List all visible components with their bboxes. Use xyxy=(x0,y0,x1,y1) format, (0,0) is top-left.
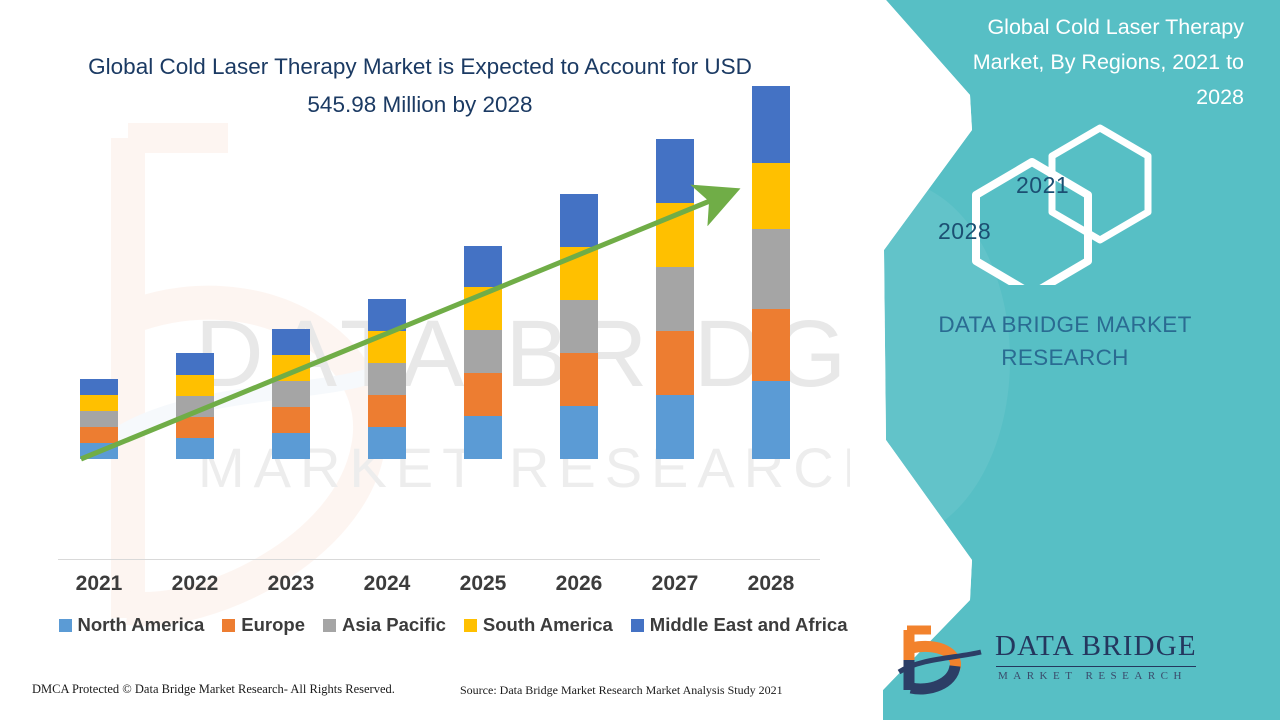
dmca-notice: DMCA Protected © Data Bridge Market Rese… xyxy=(32,682,395,697)
legend-swatch xyxy=(323,619,336,632)
legend-item[interactable]: Asia Pacific xyxy=(323,614,446,636)
x-tick-2026: 2026 xyxy=(539,572,619,596)
bar-2022 xyxy=(176,353,214,459)
bar-segment xyxy=(272,355,310,381)
side-panel-brand: DATA BRIDGE MARKET RESEARCH xyxy=(885,308,1245,374)
legend-label: Asia Pacific xyxy=(342,614,446,636)
chart-legend: North AmericaEuropeAsia PacificSouth Ame… xyxy=(58,614,848,636)
bar-segment xyxy=(752,381,790,459)
legend-label: North America xyxy=(78,614,205,636)
bar-segment xyxy=(80,427,118,443)
bar-segment xyxy=(752,229,790,309)
hexagon-label-2021: 2021 xyxy=(1016,172,1069,199)
legend-swatch xyxy=(631,619,644,632)
x-tick-2022: 2022 xyxy=(155,572,235,596)
bar-segment xyxy=(368,363,406,395)
legend-item[interactable]: South America xyxy=(464,614,613,636)
bar-segment xyxy=(272,433,310,459)
logo-subtitle: MARKET RESEARCH xyxy=(998,670,1187,682)
bar-segment xyxy=(560,300,598,353)
hexagon-pair-icon xyxy=(970,120,1200,285)
bar-segment xyxy=(176,375,214,396)
bar-2024 xyxy=(368,299,406,459)
x-tick-2023: 2023 xyxy=(251,572,331,596)
legend-swatch xyxy=(464,619,477,632)
bar-segment xyxy=(656,395,694,459)
logo-title: DATA BRIDGE xyxy=(995,630,1197,663)
bar-segment xyxy=(176,438,214,459)
bar-segment xyxy=(656,203,694,267)
legend-item[interactable]: Middle East and Africa xyxy=(631,614,848,636)
bar-segment xyxy=(368,299,406,331)
bar-segment xyxy=(368,427,406,459)
bar-segment xyxy=(560,353,598,406)
bar-segment xyxy=(656,267,694,331)
x-tick-2024: 2024 xyxy=(347,572,427,596)
legend-swatch xyxy=(222,619,235,632)
logo-divider xyxy=(996,666,1196,667)
bar-segment xyxy=(464,416,502,459)
side-panel: Global Cold Laser Therapy Market, By Reg… xyxy=(850,0,1280,720)
footer: DMCA Protected © Data Bridge Market Rese… xyxy=(0,682,860,708)
bar-segment xyxy=(464,287,502,330)
bar-segment xyxy=(80,395,118,411)
bar-2028 xyxy=(752,86,790,459)
company-logo: DATA BRIDGE MARKET RESEARCH xyxy=(895,620,1245,700)
bar-2021 xyxy=(80,379,118,459)
legend-item[interactable]: North America xyxy=(59,614,205,636)
bar-segment xyxy=(464,330,502,373)
source-note: Source: Data Bridge Market Research Mark… xyxy=(460,683,783,698)
legend-label: Middle East and Africa xyxy=(650,614,848,636)
x-axis-line xyxy=(58,559,820,560)
hexagon-label-2028: 2028 xyxy=(938,218,991,245)
bar-segment xyxy=(752,163,790,229)
chart-panel: DATA BRIDGE MARKET RESEARCH Global Cold … xyxy=(0,0,900,720)
logo-mark-icon xyxy=(895,624,990,696)
bar-segment xyxy=(176,417,214,438)
bar-segment xyxy=(560,247,598,300)
bar-segment xyxy=(80,411,118,427)
bar-segment xyxy=(80,379,118,395)
bar-segment xyxy=(272,407,310,433)
bar-segment xyxy=(368,395,406,427)
bar-segment xyxy=(176,353,214,375)
legend-label: Europe xyxy=(241,614,305,636)
bar-segment xyxy=(464,373,502,416)
legend-swatch xyxy=(59,619,72,632)
bar-segment xyxy=(656,331,694,395)
bar-segment xyxy=(272,329,310,355)
bar-segment xyxy=(176,396,214,417)
x-tick-2021: 2021 xyxy=(59,572,139,596)
side-panel-content: Global Cold Laser Therapy Market, By Reg… xyxy=(850,0,1280,720)
bar-2025 xyxy=(464,246,502,459)
side-panel-title: Global Cold Laser Therapy Market, By Reg… xyxy=(944,10,1244,115)
bar-segment xyxy=(560,194,598,247)
page-title: Global Cold Laser Therapy Market is Expe… xyxy=(70,48,770,124)
bar-2023 xyxy=(272,329,310,459)
bar-2026 xyxy=(560,194,598,459)
bar-segment xyxy=(560,406,598,459)
bar-segment xyxy=(464,246,502,287)
x-tick-2027: 2027 xyxy=(635,572,715,596)
x-tick-2028: 2028 xyxy=(731,572,811,596)
bar-2027 xyxy=(656,139,694,459)
legend-label: South America xyxy=(483,614,613,636)
bar-segment xyxy=(752,309,790,381)
x-tick-2025: 2025 xyxy=(443,572,523,596)
bar-segment xyxy=(272,381,310,407)
bar-segment xyxy=(368,331,406,363)
bar-segment xyxy=(656,139,694,203)
bar-segment xyxy=(80,443,118,459)
legend-item[interactable]: Europe xyxy=(222,614,305,636)
